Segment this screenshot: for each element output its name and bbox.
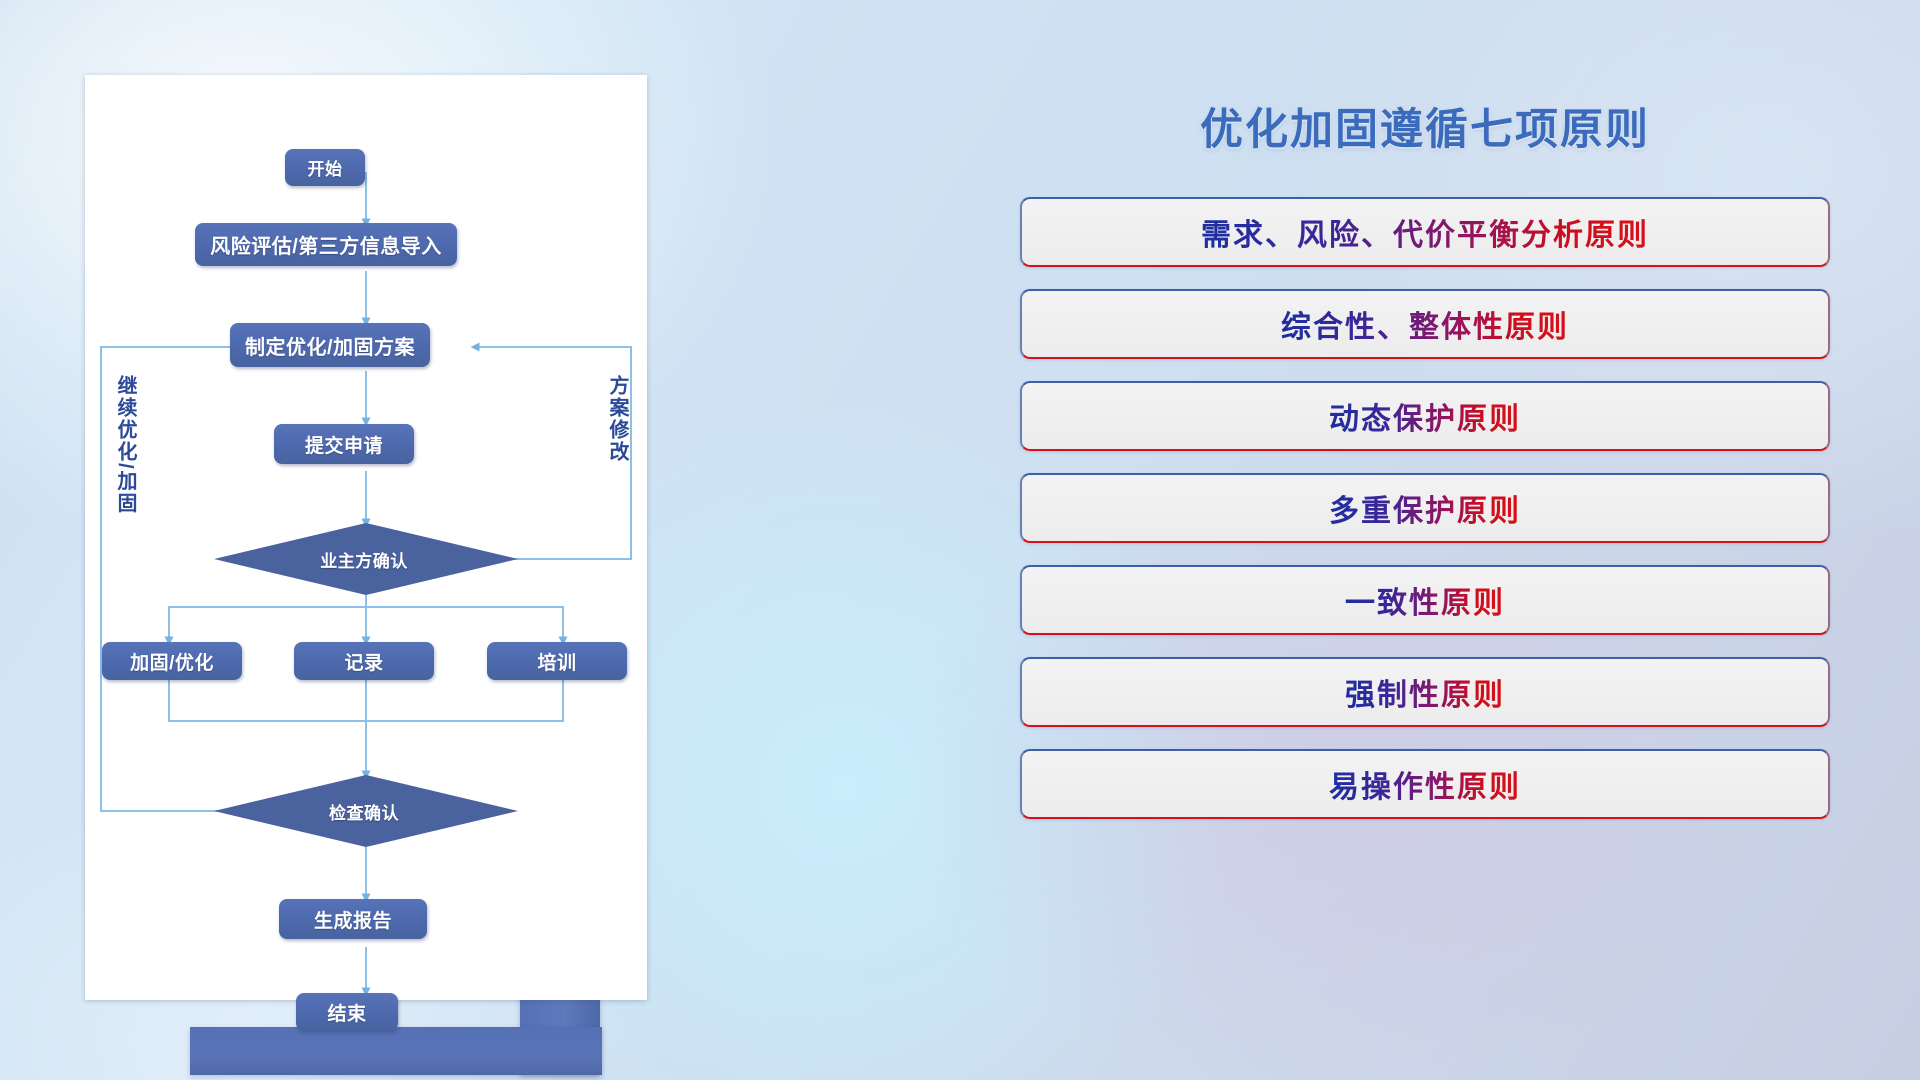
flowchart-canvas: 开始 风险评估/第三方信息导入 制定优化/加固方案 提交申请 业主方确认 加固/… <box>85 75 647 1000</box>
flow-edge-label-revise-plan: 方案修改 <box>603 375 632 463</box>
principle-card-6[interactable]: 强制性原则 <box>1020 657 1830 727</box>
principle-card-3[interactable]: 动态保护原则 <box>1020 381 1830 451</box>
flow-node-generate-report[interactable]: 生成报告 <box>279 899 427 939</box>
flow-node-plan[interactable]: 制定优化/加固方案 <box>230 323 430 367</box>
flowchart-diagram: 开始 风险评估/第三方信息导入 制定优化/加固方案 提交申请 业主方确认 加固/… <box>85 75 647 1000</box>
flow-node-reinforce[interactable]: 加固/优化 <box>102 642 242 680</box>
principle-card-1[interactable]: 需求、风险、代价平衡分析原则 <box>1020 197 1830 267</box>
principle-label: 易操作性原则 <box>1329 762 1521 806</box>
principle-card-7[interactable]: 易操作性原则 <box>1020 749 1830 819</box>
accent-block-horizontal <box>190 1027 602 1075</box>
principle-label: 多重保护原则 <box>1329 486 1521 530</box>
flow-node-check-confirm[interactable]: 检查确认 <box>284 796 444 826</box>
flow-node-submit-application[interactable]: 提交申请 <box>274 424 414 464</box>
flowchart-panel: 开始 风险评估/第三方信息导入 制定优化/加固方案 提交申请 业主方确认 加固/… <box>85 75 785 1005</box>
principles-title: 优化加固遵循七项原则 <box>1020 95 1830 157</box>
flow-node-record[interactable]: 记录 <box>294 642 434 680</box>
flow-node-risk-assessment[interactable]: 风险评估/第三方信息导入 <box>195 223 457 266</box>
principle-label: 综合性、整体性原则 <box>1281 302 1569 346</box>
flow-node-training[interactable]: 培训 <box>487 642 627 680</box>
flow-node-end[interactable]: 结束 <box>296 993 398 1031</box>
principle-card-4[interactable]: 多重保护原则 <box>1020 473 1830 543</box>
flow-edge-label-continue-optimize: 继续优化/加固 <box>111 375 140 515</box>
flow-node-owner-confirm[interactable]: 业主方确认 <box>284 544 444 574</box>
principle-label: 一致性原则 <box>1345 578 1505 622</box>
principle-label: 需求、风险、代价平衡分析原则 <box>1201 210 1649 254</box>
principle-card-5[interactable]: 一致性原则 <box>1020 565 1830 635</box>
principle-card-2[interactable]: 综合性、整体性原则 <box>1020 289 1830 359</box>
flowchart-connectors <box>85 75 647 1000</box>
principle-label: 动态保护原则 <box>1329 394 1521 438</box>
principles-list: 需求、风险、代价平衡分析原则 综合性、整体性原则 动态保护原则 多重保护原则 一… <box>1020 197 1830 819</box>
principle-label: 强制性原则 <box>1345 670 1505 714</box>
flow-node-start[interactable]: 开始 <box>285 149 365 186</box>
principles-panel: 优化加固遵循七项原则 需求、风险、代价平衡分析原则 综合性、整体性原则 动态保护… <box>1020 95 1830 819</box>
